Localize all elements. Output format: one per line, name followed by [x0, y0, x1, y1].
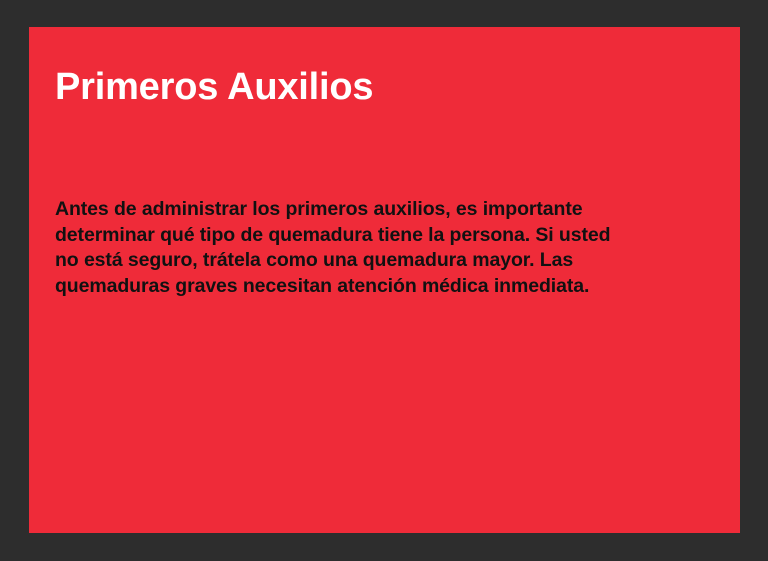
- body-line: Antes de administrar los primeros auxili…: [55, 197, 695, 223]
- slide-panel: Primeros Auxilios Antes de administrar l…: [29, 27, 740, 533]
- page-title: Primeros Auxilios: [55, 64, 373, 110]
- body-line: quemaduras graves necesitan atención méd…: [55, 274, 695, 300]
- body-line: no está seguro, trátela como una quemadu…: [55, 248, 695, 274]
- body-line: determinar qué tipo de quemadura tiene l…: [55, 223, 695, 249]
- slide-body-text: Antes de administrar los primeros auxili…: [55, 197, 695, 299]
- slide-stage: Primeros Auxilios Antes de administrar l…: [0, 0, 768, 561]
